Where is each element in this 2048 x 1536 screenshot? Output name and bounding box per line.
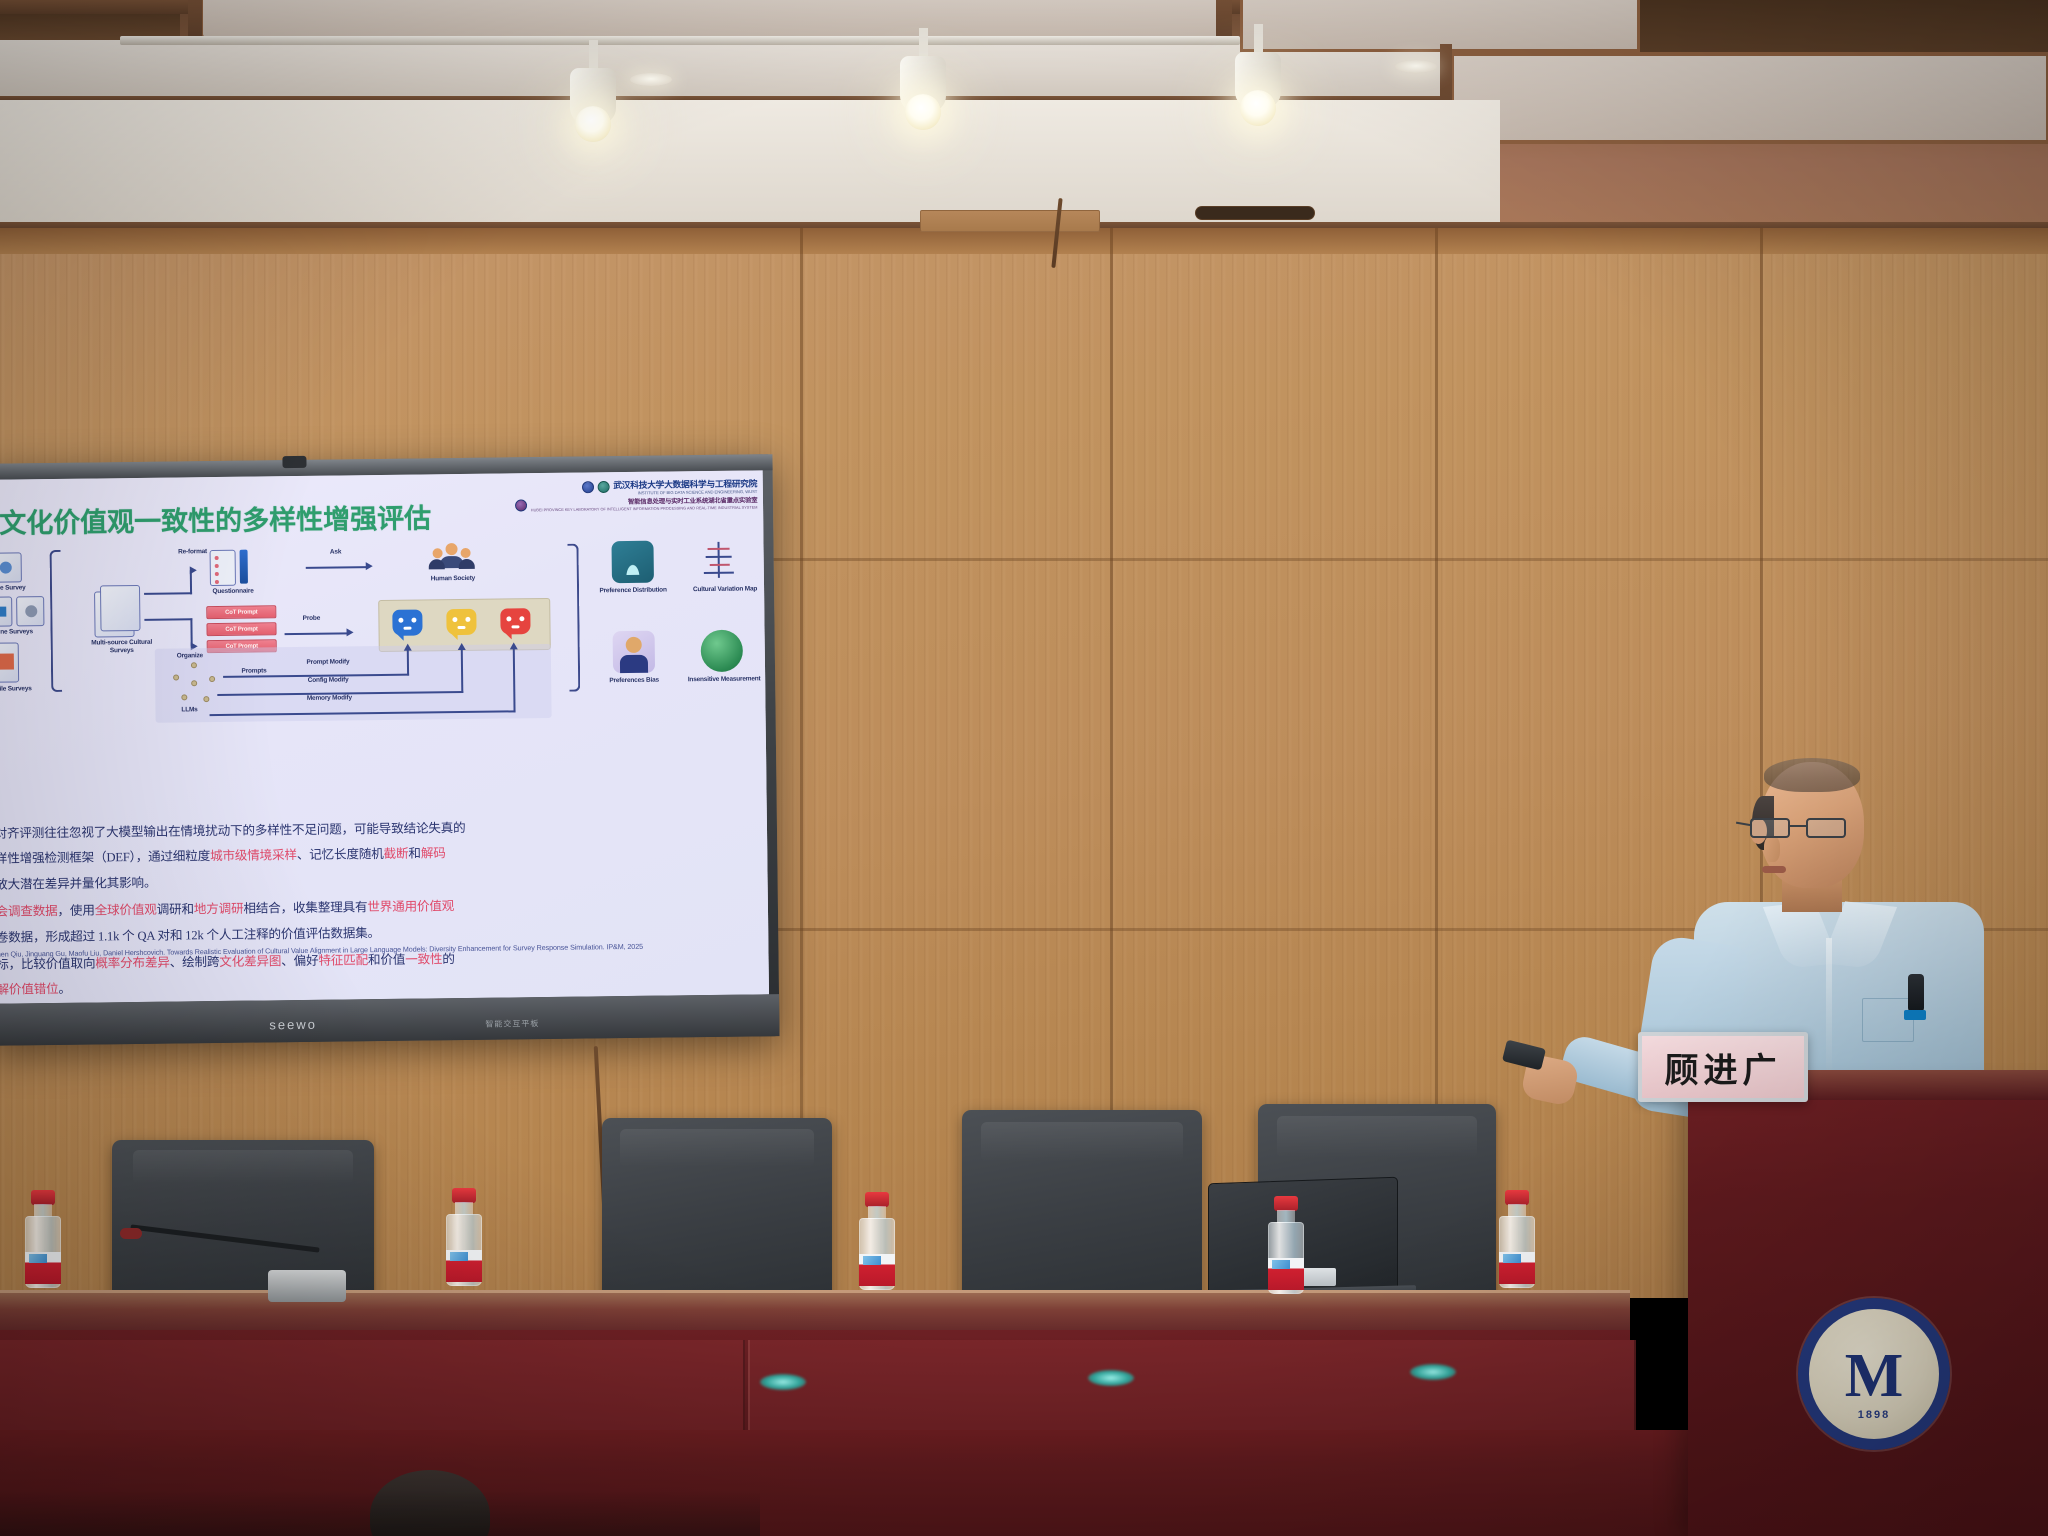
fig-label-preferences-bias: Preferences Bias [595,676,673,685]
lab-logo-icon [515,499,527,511]
display-panel: 武汉科技大学大数据科学与工程研究院 INSTITUTE OF BIG DATA … [0,470,769,1003]
presenter-mouth [1762,866,1786,873]
emblem-letter: M [1845,1352,1904,1402]
fig-label-online-survey: Online Survey [0,584,34,593]
institute-logo-icon [582,481,594,493]
microphone-head [120,1228,142,1239]
presenter-nose [1764,836,1780,862]
human-society-icon [429,543,475,574]
cultural-variation-map-icon [699,542,739,580]
fig-label-offline-surveys: Offline Surveys [0,628,43,637]
slide-body-text: 文化价值对齐评测往往忽视了大模型输出在情境扰动下的多样性不足问题，可能导致结论失… [0,814,769,1003]
agent-bot-yellow [446,609,476,635]
fig-label-config-modify: Config Modify [293,676,363,685]
body-text-run: 调研和 [157,902,194,916]
agent-bot-red [500,608,530,634]
highlighted-text: 世界通用价值观 [367,899,454,914]
fig-label-llms: LLMs [169,706,209,715]
fig-label-insensitive-measurement: Insensitive Measurement [681,675,767,684]
offline-survey-card-a [0,596,12,626]
fig-label-human-society: Human Society [412,575,494,584]
preference-distribution-icon [611,541,654,584]
interactive-display[interactable]: 武汉科技大学大数据科学与工程研究院 INSTITUTE OF BIG DATA … [0,454,780,1046]
body-text-run: 、记忆长度随机 [297,847,384,862]
mobile-survey-card [0,642,19,682]
fig-label-probe: Probe [294,615,328,624]
chair-3 [962,1110,1202,1310]
highlighted-text: 城市级情境采样 [210,848,297,863]
agent-bot-blue [392,609,422,635]
fig-label-memory-modify: Memory Modify [293,694,365,703]
presenter-hair [1764,758,1860,792]
table-led-1 [760,1374,806,1390]
highlighted-text: 言多维社会调查数据 [0,904,58,919]
online-survey-card [0,552,22,582]
body-text-run: 。 [58,982,71,996]
framework-figure: Online Survey Offline Surveys Mobile Sur… [0,537,756,724]
llm-network-icon [173,662,218,707]
fig-left-bracket [50,550,63,692]
highlighted-text: 地方调研 [194,902,244,917]
fig-label-mobile-surveys: Mobile Surveys [0,685,43,694]
recessed-downlight [630,73,672,86]
clip-microphone [1908,974,1924,1012]
table-led-3 [1410,1364,1456,1380]
nameplate: 顾进广 [1638,1032,1808,1102]
preferences-bias-icon [613,631,656,674]
foreground-shadow [0,1490,760,1536]
wall-vent [920,210,1100,232]
fig-label-preference-distribution: Preference Distribution [594,586,672,595]
fig-label-questionnaire: Questionnaire [200,587,266,596]
chair-2 [602,1118,832,1308]
fig-label-cultural-variation-map: Cultural Variation Map [684,585,766,594]
fig-right-bracket [567,544,580,692]
lectern: 顾进广 M 1898 [1688,1090,2048,1536]
wall-speaker [1195,206,1315,220]
body-text-run: ，使用 [57,904,94,918]
body-text-run: 文化价值对齐评测往往忽视了大模型输出在情境扰动下的多样性不足问题，可能导致结论失… [0,821,466,841]
fig-label-multi-source: Multi-source Cultural Surveys [79,639,165,656]
questionnaire-icon [210,550,236,586]
nameplate-text: 顾进广 [1665,1043,1782,1092]
fig-label-prompt-modify: Prompt Modify [293,658,363,667]
shirt-pocket [1862,998,1914,1042]
microphone-base [268,1270,346,1302]
ceiling [0,0,2048,230]
body-text-run: 和 [408,847,421,861]
emblem-year: 1898 [1809,1409,1939,1421]
slide-paragraph: 重机制，放大潜在差异并量化其影响。 [0,865,769,896]
display-chin-badge: 智能交互平板 [485,1018,539,1030]
table-led-2 [1088,1370,1134,1386]
cot-prompt-pill-2: CoT Prompt [206,622,276,636]
cot-prompt-pill-1: CoT Prompt [206,605,276,619]
badge-clip [1904,1010,1926,1020]
body-text-run: 相结合，收集整理具有 [243,900,367,916]
presentation-slide: 武汉科技大学大数据科学与工程研究院 INSTITUTE OF BIG DATA … [0,470,769,1003]
slide-logo-block: 武汉科技大学大数据科学与工程研究院 INSTITUTE OF BIG DATA … [514,476,757,514]
display-camera-nub [282,456,306,468]
offline-survey-card-b [16,596,44,626]
display-brand-label: seewo [269,1017,317,1033]
photo-scene: 武汉科技大学大数据科学与工程研究院 INSTITUTE OF BIG DATA … [0,0,2048,1536]
body-text-run: 的问卷数据，形成超过 1.1k 个 QA 对和 12k 个人工注释的价值评估数据… [0,926,380,945]
light-track [120,36,1240,45]
insensitive-measurement-icon [701,630,744,673]
highlighted-text: 截断 [384,847,409,861]
highlighted-text: 理解价值错位 [0,982,59,997]
body-text-run: 重机制，放大潜在差异并量化其影响。 [0,876,156,893]
fig-label-ask: Ask [320,548,352,557]
university-logo-icon [597,481,609,493]
eyeglasses [1750,818,1856,838]
recessed-downlight [1395,60,1437,73]
university-emblem: M 1898 [1798,1298,1950,1450]
multi-source-surveys-icon-back [100,585,141,631]
fig-label-organize: Organize [165,652,215,661]
body-text-run: 提出了多样性增强检测框架（DEF），通过细粒度 [0,849,210,866]
pen-icon [240,550,248,584]
highlighted-text: 解码 [421,847,446,861]
highlighted-text: 全球价值观 [95,903,157,918]
